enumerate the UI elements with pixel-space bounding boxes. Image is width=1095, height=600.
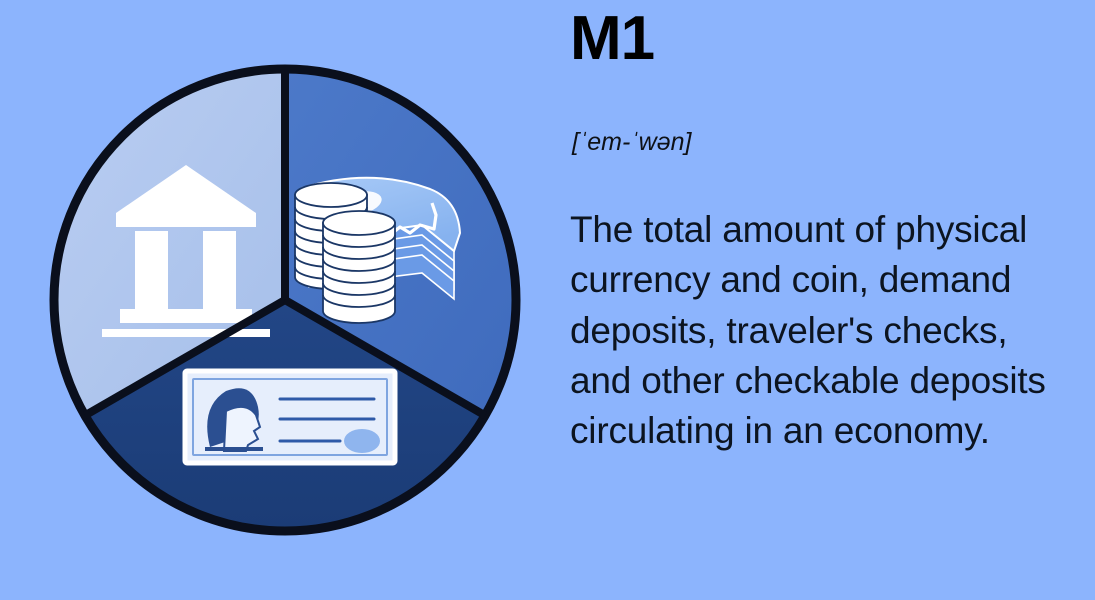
pronunciation-text: [ˈem-ˈwən] bbox=[572, 130, 691, 155]
coin-stack-front bbox=[323, 211, 395, 323]
entry-text-column: M1 [ˈem-ˈwən] The total amount of physic… bbox=[568, 0, 1078, 600]
pie-chart-graphic bbox=[40, 55, 530, 545]
m1-pie-illustration bbox=[40, 55, 530, 545]
page-title: M1 bbox=[570, 8, 654, 70]
definition-text: The total amount of physical currency an… bbox=[570, 205, 1070, 457]
definition-card: M1 [ˈem-ˈwən] The total amount of physic… bbox=[0, 0, 1095, 600]
bank-check-icon bbox=[185, 371, 395, 463]
check-signature-blob bbox=[344, 429, 380, 453]
